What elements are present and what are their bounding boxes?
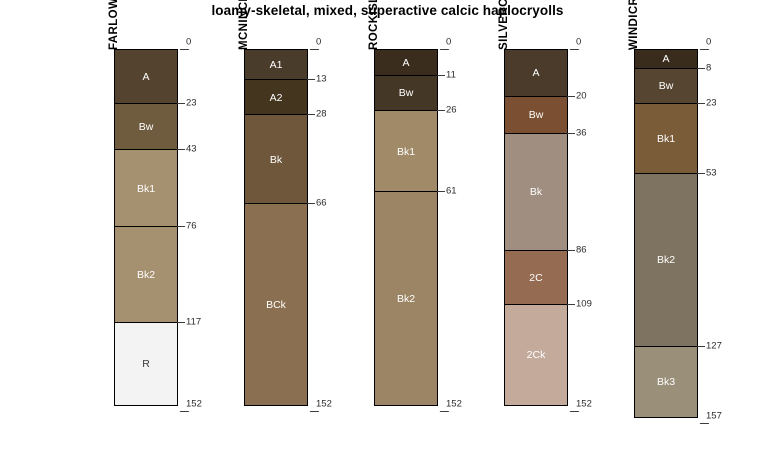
horizon-bk1: Bk1 [635,104,697,174]
depth-tick [697,346,705,347]
depth-tick [307,114,315,115]
depth-tick [567,250,575,251]
depth-label: 11 [446,69,456,80]
depth-label: 0 [576,37,581,48]
soil-profile-windicreek: WINDICREEKABwBk1Bk2Bk3082353127157 [596,0,736,450]
horizon-label: 2C [505,272,567,284]
horizon-bk: Bk [505,134,567,251]
depth-label: 23 [186,97,197,108]
depth-label: 0 [316,37,321,48]
depth-label: 157 [706,410,722,421]
horizon-label: Bk2 [375,293,437,305]
depth-tick [437,110,445,111]
horizon-bk1: Bk1 [115,150,177,227]
depth-tick [567,96,575,97]
horizon-label: Bw [375,87,437,99]
horizon-a1: A1 [245,50,307,80]
pedon-label-windicreek: WINDICREEK [628,0,640,50]
horizon-2c: 2C [505,251,567,305]
soil-profile-silvercliff: SILVERCLIFFABwBk2C2Ck0203686109152 [466,0,606,450]
horizon-label: Bk3 [635,376,697,388]
depth-label: 152 [316,398,332,409]
horizon-a2: A2 [245,80,307,115]
horizon-bk3: Bk3 [635,347,697,417]
horizon-bw: Bw [635,69,697,104]
depth-label: 109 [576,298,592,309]
horizon-label: Bk1 [375,146,437,158]
profile-column: ABwBk1Bk2 [374,49,438,406]
horizon-bck: BCk [245,204,307,405]
depth-tick [697,103,705,104]
depth-tick [567,304,575,305]
depth-label: 0 [186,37,191,48]
horizon-r: R [115,323,177,405]
depth-label: 117 [186,317,201,328]
depth-label: 66 [316,198,327,209]
horizon-bk2: Bk2 [635,174,697,347]
depth-tick [177,322,185,323]
depth-tick [437,75,445,76]
profile-column: ABwBk1Bk2R [114,49,178,406]
horizon-label: A [375,57,437,69]
horizon-bw: Bw [505,97,567,134]
depth-label: 28 [316,109,327,120]
depth-label: 23 [706,97,717,108]
horizon-a: A [375,50,437,76]
depth-tick [177,149,185,150]
depth-tick [177,226,185,227]
horizon-label: Bk [245,154,307,166]
pedon-label-mcninch: MCNINCH [238,0,250,50]
horizon-label: A [115,71,177,83]
soil-profile-mcninch: MCNINCHA1A2BkBCk0132866152 [206,0,346,450]
horizon-label: A [505,67,567,79]
horizon-bk1: Bk1 [375,111,437,193]
horizon-label: BCk [245,299,307,311]
horizon-label: Bk1 [635,133,697,145]
horizon-label: Bw [115,121,177,133]
depth-tick [697,173,705,174]
pedon-label-farlow: FARLOW [108,0,120,50]
depth-label: 26 [446,104,457,115]
profile-column: ABwBk2C2Ck [504,49,568,406]
depth-tick [307,79,315,80]
horizon-2ck: 2Ck [505,305,567,405]
depth-tick [567,133,575,134]
horizon-a: A [505,50,567,97]
depth-label: 152 [186,398,202,409]
depth-label: 13 [316,74,327,85]
depth-label: 61 [446,186,457,197]
horizon-label: Bk2 [635,254,697,266]
depth-label: 127 [706,340,722,351]
horizon-label: Bk1 [115,183,177,195]
horizon-label: A1 [245,59,307,71]
depth-tick [177,103,185,104]
horizon-label: R [115,358,177,370]
horizon-label: Bk [505,186,567,198]
pedon-label-rockisland: ROCKISLAND [368,0,380,50]
horizon-a: A [115,50,177,104]
horizon-label: Bw [505,109,567,121]
pedon-label-silvercliff: SILVERCLIFF [498,0,510,50]
depth-label: 8 [706,62,711,73]
soil-profile-chart: loamy-skeletal, mixed, superactive calci… [0,0,775,450]
depth-tick [437,191,445,192]
horizon-label: A [635,53,697,65]
horizon-bk: Bk [245,115,307,204]
profile-column: ABwBk1Bk2Bk3 [634,49,698,418]
depth-label: 43 [186,144,197,155]
profile-column: A1A2BkBCk [244,49,308,406]
horizon-bw: Bw [115,104,177,151]
depth-label: 76 [186,221,197,232]
depth-label: 86 [576,244,587,255]
horizon-label: Bw [635,80,697,92]
depth-label: 152 [446,398,462,409]
depth-tick [307,203,315,204]
horizon-bw: Bw [375,76,437,111]
horizon-bk2: Bk2 [115,227,177,323]
horizon-label: A2 [245,92,307,104]
horizon-label: 2Ck [505,349,567,361]
depth-label: 0 [706,37,711,48]
horizon-a: A [635,50,697,69]
depth-label: 53 [706,167,717,178]
horizon-label: Bk2 [115,269,177,281]
depth-label: 0 [446,37,451,48]
depth-tick [697,68,705,69]
soil-profile-farlow: FARLOWABwBk1Bk2R0234376117152 [76,0,216,450]
depth-label: 36 [576,128,587,139]
depth-label: 152 [576,398,592,409]
horizon-bk2: Bk2 [375,192,437,404]
depth-label: 20 [576,90,587,101]
soil-profile-rockisland: ROCKISLANDABwBk1Bk20112661152 [336,0,476,450]
